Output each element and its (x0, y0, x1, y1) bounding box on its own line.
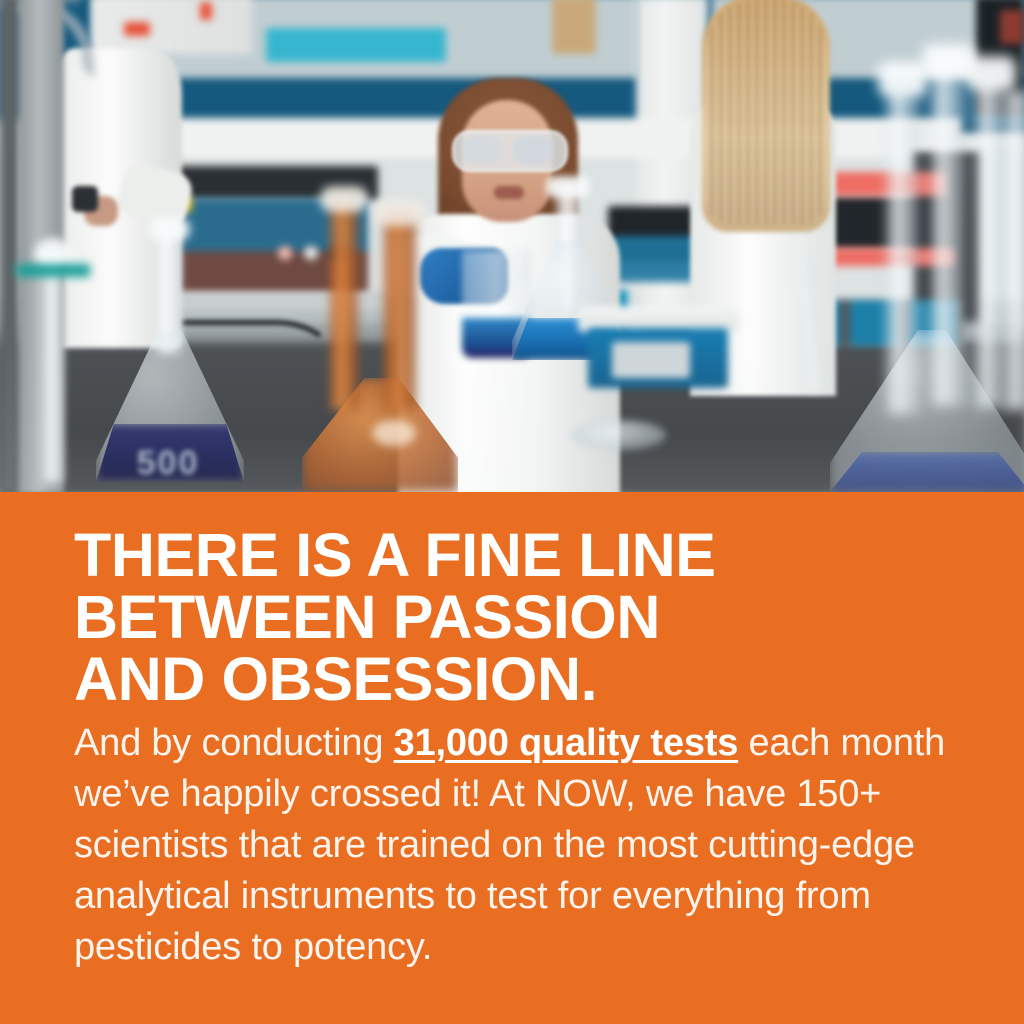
graduated-cylinder-3-cap (966, 56, 1016, 90)
blue-flask-lip (546, 176, 590, 198)
amber-flask-lip-1 (320, 186, 368, 212)
graduated-cylinder-1-cap (878, 62, 928, 96)
orange-text-panel: There is a fine line between passion and… (0, 492, 1024, 1024)
left-frame-post-dark (0, 0, 20, 492)
flask-500ml-label: 500 (108, 444, 228, 483)
social-graphic-canvas: 500 There is a fine line between passion… (0, 0, 1024, 1024)
graduated-cylinder-3 (974, 78, 1008, 408)
cabinet-red-box-2 (200, 2, 212, 20)
body-copy: And by conducting 31,000 quality tests e… (74, 718, 946, 973)
cabinet-tan-box (552, 0, 596, 54)
body-copy-lead: And by conducting (74, 722, 394, 764)
cabinet-teal-bottles (266, 28, 446, 62)
quality-tests-highlight: 31,000 quality tests (394, 722, 739, 764)
safety-goggles-icon (452, 130, 568, 172)
amber-flask-highlight (372, 420, 416, 446)
headline: There is a fine line between passion and… (74, 524, 974, 710)
pipette-left (42, 252, 64, 482)
balance-display (612, 342, 690, 378)
center-scientist-mouth (494, 186, 524, 199)
left-scientist-held-device (72, 186, 98, 212)
shaker-button-2 (304, 246, 318, 260)
shaker-button-1 (278, 246, 292, 260)
cabinet-contents-left (92, 0, 252, 54)
lab-photo: 500 (0, 0, 1024, 492)
petri-dish (570, 420, 666, 450)
cabinet-red-contents (1000, 10, 1024, 44)
cabinet-red-box-1 (124, 22, 150, 36)
flask-500ml-lip (148, 218, 190, 240)
graduated-cylinder-4 (1004, 90, 1024, 410)
amber-flask-lip-2 (374, 200, 426, 226)
amber-flask-neck-1 (330, 196, 358, 410)
pipette-teal-band (16, 264, 90, 277)
amber-flask-neck-2 (384, 210, 416, 410)
right-scientist-hair-strands (706, 0, 826, 224)
large-flask-right-liquid (830, 452, 1024, 492)
